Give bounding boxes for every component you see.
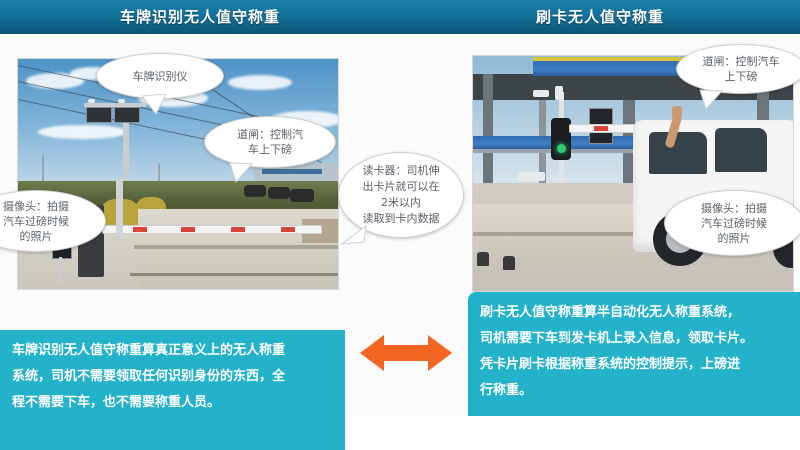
plate-camera-icon: [88, 99, 95, 103]
callout-line: 摄像头：拍摄: [3, 199, 69, 214]
callout-line: 读卡器：司机伸: [363, 163, 440, 179]
truck-window: [649, 132, 707, 174]
tyre-barrier: [290, 189, 314, 202]
display-board: [114, 107, 140, 123]
callout-camera: 摄像头：拍摄 汽车过磅时候 的照片: [664, 190, 800, 256]
header-bar: 车牌识别无人值守称重 刷卡无人值守称重: [0, 0, 800, 34]
white-post: [116, 179, 123, 239]
callout-line: 摄像头：拍摄: [701, 201, 767, 216]
surveillance-camera: [519, 172, 545, 181]
surveillance-camera: [533, 90, 549, 97]
driver-hand-with-card: [672, 106, 682, 118]
traffic-cone: [477, 252, 489, 266]
callout-line: 车牌识别仪: [133, 69, 188, 84]
callout-line: 出卡片就可以在: [363, 179, 440, 195]
callout-line: 的照片: [701, 231, 767, 246]
callout-barrier-gate: 道闸：控制汽车 上下磅: [676, 44, 800, 94]
description-line: 刷卡无人值守称重算半自动化无人称重系统，: [480, 300, 788, 326]
callout-line: 上下磅: [703, 69, 780, 84]
callout-line: 道闸：控制汽: [237, 127, 303, 142]
page-root: 车牌识别无人值守称重 刷卡无人值守称重: [0, 0, 800, 416]
description-line: 行称重。: [480, 378, 788, 404]
callout-line: 的照片: [3, 229, 69, 244]
callout-line: 2米以内: [363, 195, 440, 211]
traffic-light: [551, 118, 571, 160]
cloud: [38, 125, 128, 139]
right-description: 刷卡无人值守称重算半自动化无人称重系统， 司机需要下车到发卡机上录入信息，领取卡…: [468, 292, 800, 416]
callout-plate-recognizer: 车牌识别仪: [96, 53, 224, 99]
callout-line: 读取到卡内数据: [363, 211, 440, 227]
description-line: 司机需要下车到发卡机上录入信息，领取卡片。: [480, 326, 788, 352]
display-board: [86, 107, 112, 123]
tyre-barrier: [244, 185, 266, 197]
plate-camera-icon: [118, 99, 125, 103]
description-line: 车牌识别无人值守称重算真正意义上的无人称重: [12, 338, 333, 364]
led-display-post: [59, 257, 62, 283]
header-title-right: 刷卡无人值守称重: [400, 0, 800, 34]
truck-window: [715, 128, 767, 172]
tyre-barrier: [268, 187, 290, 199]
double-headed-arrow-icon: [360, 330, 452, 376]
deck-seam: [130, 273, 339, 276]
description-line: 程不需要下车，也不需要称重人员。: [12, 390, 333, 416]
callout-barrier-gate-tail-right: [696, 89, 726, 111]
callout-plate-recognizer-tail: [140, 94, 170, 116]
deck-edge: [134, 245, 339, 249]
callout-line: 道闸：控制汽车: [703, 54, 780, 69]
description-line: 凭卡片刷卡根据称重系统的控制提示，上磅进: [480, 352, 788, 378]
callout-barrier-gate-tail: [226, 162, 256, 184]
distant-building-stripe: [262, 169, 322, 174]
traffic-cone: [503, 256, 515, 270]
description-line: 系统，司机不需要领取任何识别身份的东西，全: [12, 364, 333, 390]
callout-line: 车上下磅: [237, 142, 303, 157]
callout-line: 汽车过磅时候: [701, 216, 767, 231]
callout-barrier-gate: 道闸：控制汽 车上下磅: [204, 116, 336, 168]
callout-line: 汽车过磅时候: [3, 214, 69, 229]
callout-card-reader-tail: [336, 224, 370, 248]
traffic-light-green-lamp: [557, 144, 566, 153]
barrier-gate-arm: [102, 225, 322, 234]
header-title-left: 车牌识别无人值守称重: [0, 0, 400, 34]
surveillance-camera: [555, 86, 563, 100]
left-description: 车牌识别无人值守称重算真正意义上的无人称重 系统，司机不需要领取任何识别身份的东…: [0, 330, 345, 450]
right-panel: 道闸：控制汽车 上下磅 摄像头：拍摄 汽车过磅时候 的照片 刷卡无人值守称重算半…: [400, 34, 800, 416]
cloud: [228, 75, 292, 90]
